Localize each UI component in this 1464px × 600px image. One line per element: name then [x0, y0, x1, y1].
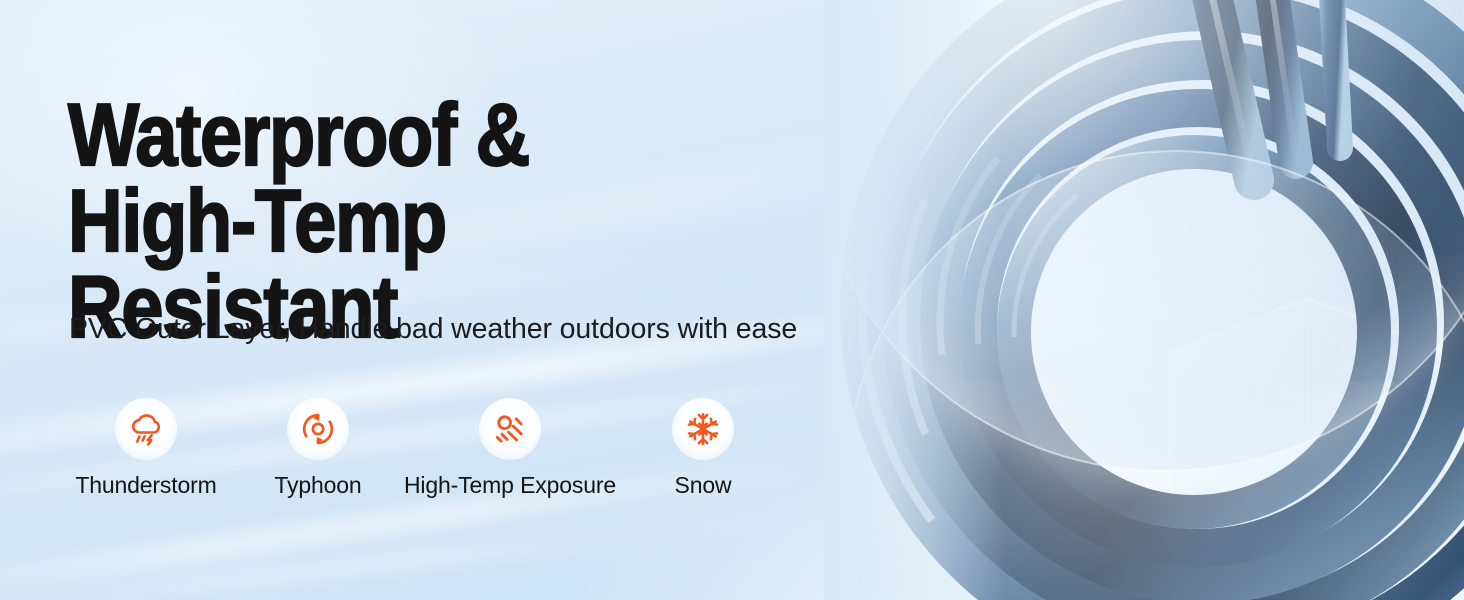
feature-icon-bubble — [115, 398, 177, 460]
feature-label: Typhoon — [260, 472, 376, 499]
feature-label: High-Temp Exposure — [396, 472, 624, 499]
feature-typhoon: Typhoon — [260, 398, 376, 499]
feature-icon-bubble — [287, 398, 349, 460]
feature-icon-bubble — [672, 398, 734, 460]
thunderstorm-icon — [126, 409, 166, 449]
copy-block: Waterproof & High-Temp Resistant PVC Out… — [68, 0, 888, 600]
snowflake-icon — [684, 410, 722, 448]
feature-thunderstorm: Thunderstorm — [68, 398, 224, 499]
feature-icon-bubble — [479, 398, 541, 460]
feature-snow: Snow — [646, 398, 760, 499]
feature-label: Thunderstorm — [68, 472, 224, 499]
feature-label: Snow — [646, 472, 760, 499]
typhoon-icon — [299, 410, 337, 448]
promo-banner: Waterproof & High-Temp Resistant PVC Out… — [0, 0, 1464, 600]
page-title: Waterproof & High-Temp Resistant — [68, 92, 773, 351]
product-image — [824, 0, 1464, 600]
feature-high-temp: High-Temp Exposure — [396, 398, 624, 499]
high-temp-icon — [491, 410, 529, 448]
subtitle: PVC Outer Layer, Handle bad weather outd… — [69, 313, 797, 346]
